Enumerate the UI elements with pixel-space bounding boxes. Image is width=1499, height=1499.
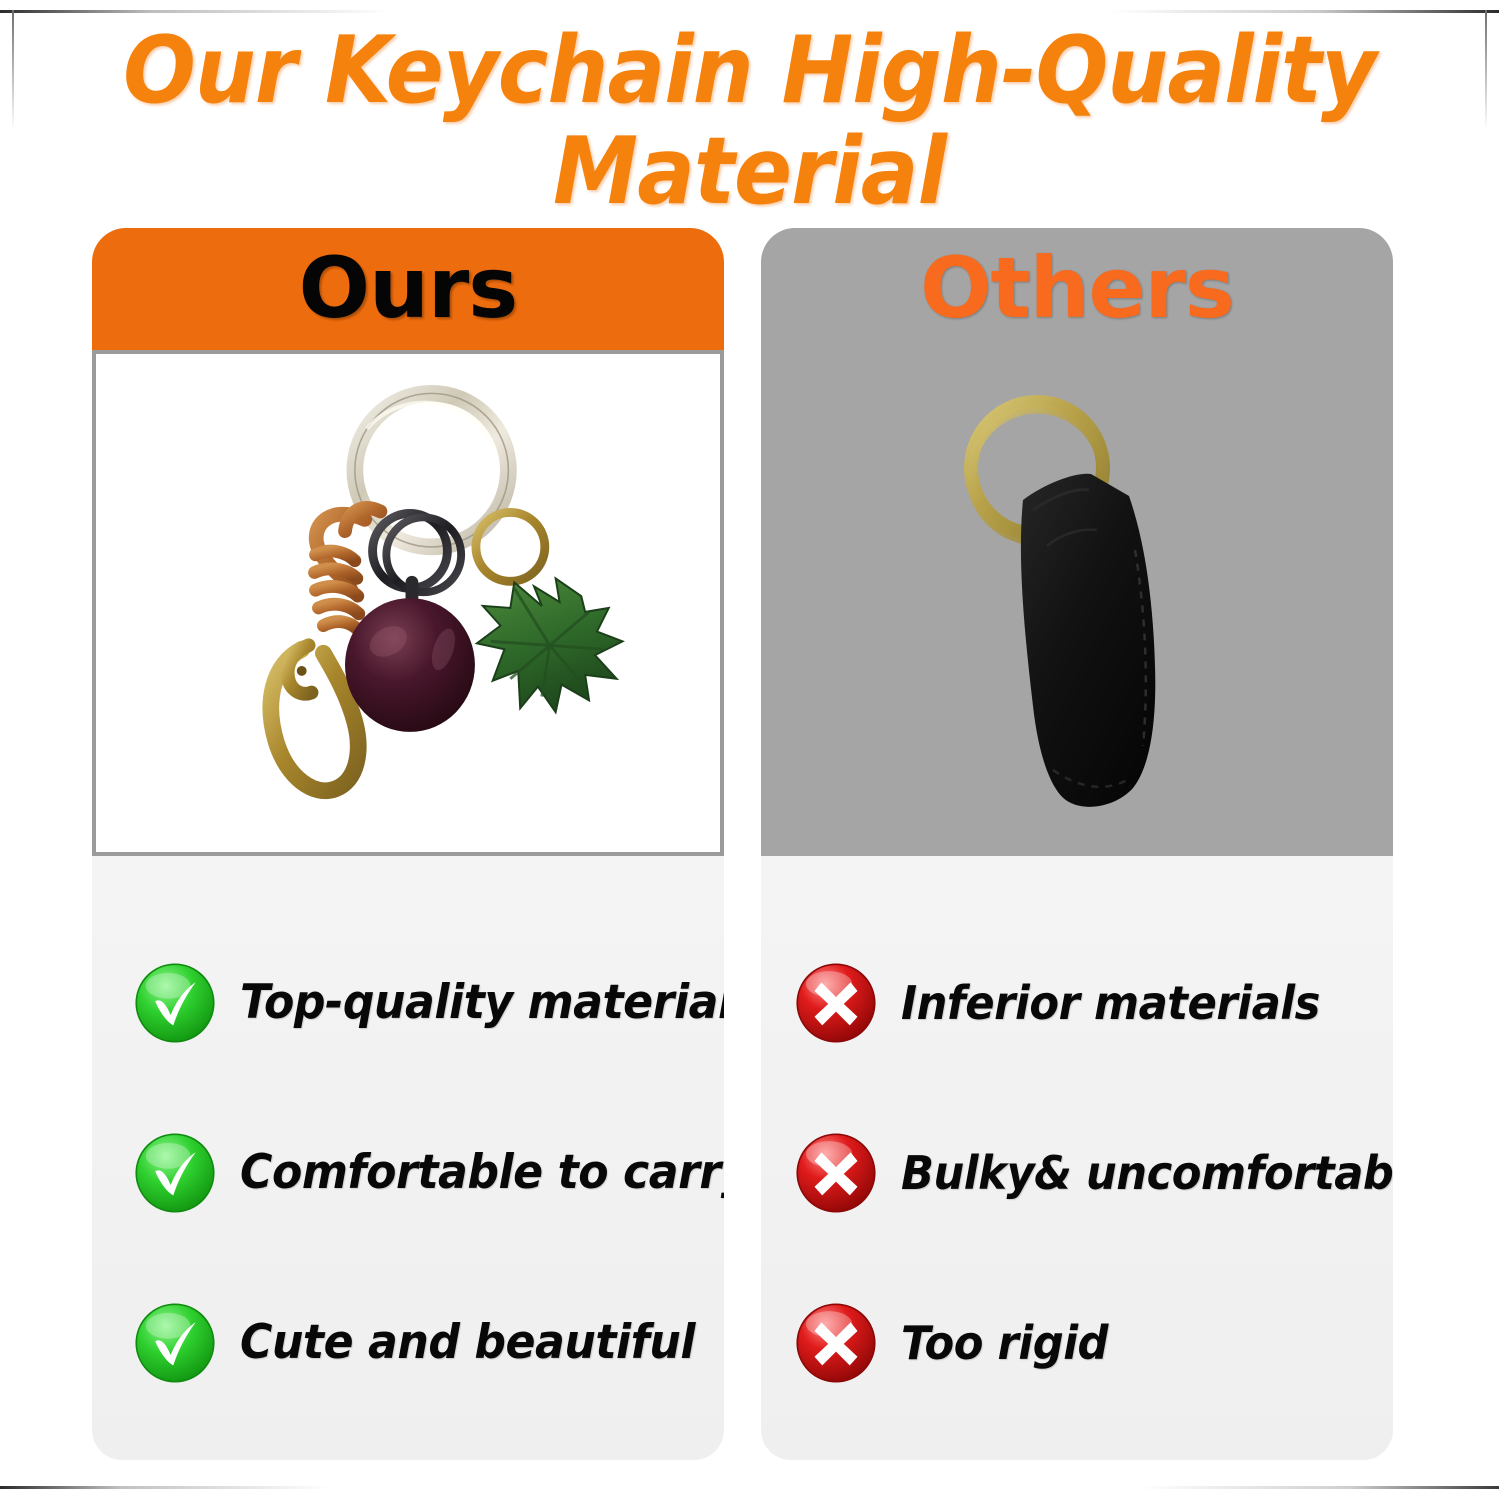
- frame-line-top: [0, 10, 1499, 13]
- bullet-list-others: Inferior materials Bulky& uncomfortable: [761, 856, 1393, 1460]
- product-photo-others: [761, 350, 1393, 856]
- green-check-icon: [132, 1130, 218, 1216]
- list-item-label: Inferior materials: [901, 977, 1320, 1029]
- green-check-icon: [132, 1300, 218, 1386]
- panel-others: Others: [761, 228, 1393, 1460]
- comparison-infographic: Our Keychain High-Quality Material Ours: [0, 0, 1499, 1499]
- red-cross-icon: [793, 960, 879, 1046]
- bullet-list-ours: Top-quality materials Comfortable to car…: [92, 856, 724, 1460]
- keychain-ours-illustration: [96, 354, 720, 852]
- frame-line-left: [12, 10, 14, 130]
- panel-header-others: Others: [761, 228, 1393, 350]
- panel-header-ours: Ours: [92, 228, 724, 350]
- frame-line-bottom: [0, 1486, 1499, 1489]
- red-cross-icon: [793, 1300, 879, 1386]
- list-item: Cute and beautiful: [92, 1258, 724, 1428]
- list-item-label: Top-quality materials: [240, 977, 724, 1029]
- panel-ours: Ours: [92, 228, 724, 1460]
- green-check-icon: [132, 960, 218, 1046]
- list-item-label: Too rigid: [901, 1317, 1108, 1369]
- list-item: Inferior materials: [761, 918, 1393, 1088]
- page-title: Our Keychain High-Quality Material: [60, 20, 1439, 222]
- list-item-label: Bulky& uncomfortable: [901, 1147, 1393, 1199]
- list-item-label: Cute and beautiful: [240, 1317, 695, 1369]
- list-item-label: Comfortable to carry: [240, 1147, 724, 1199]
- list-item: Too rigid: [761, 1258, 1393, 1428]
- list-item: Bulky& uncomfortable: [761, 1088, 1393, 1258]
- product-photo-ours: [92, 350, 724, 856]
- keychain-others-illustration: [761, 350, 1393, 856]
- frame-line-right: [1485, 10, 1487, 130]
- red-cross-icon: [793, 1130, 879, 1216]
- list-item: Top-quality materials: [92, 918, 724, 1088]
- list-item: Comfortable to carry: [92, 1088, 724, 1258]
